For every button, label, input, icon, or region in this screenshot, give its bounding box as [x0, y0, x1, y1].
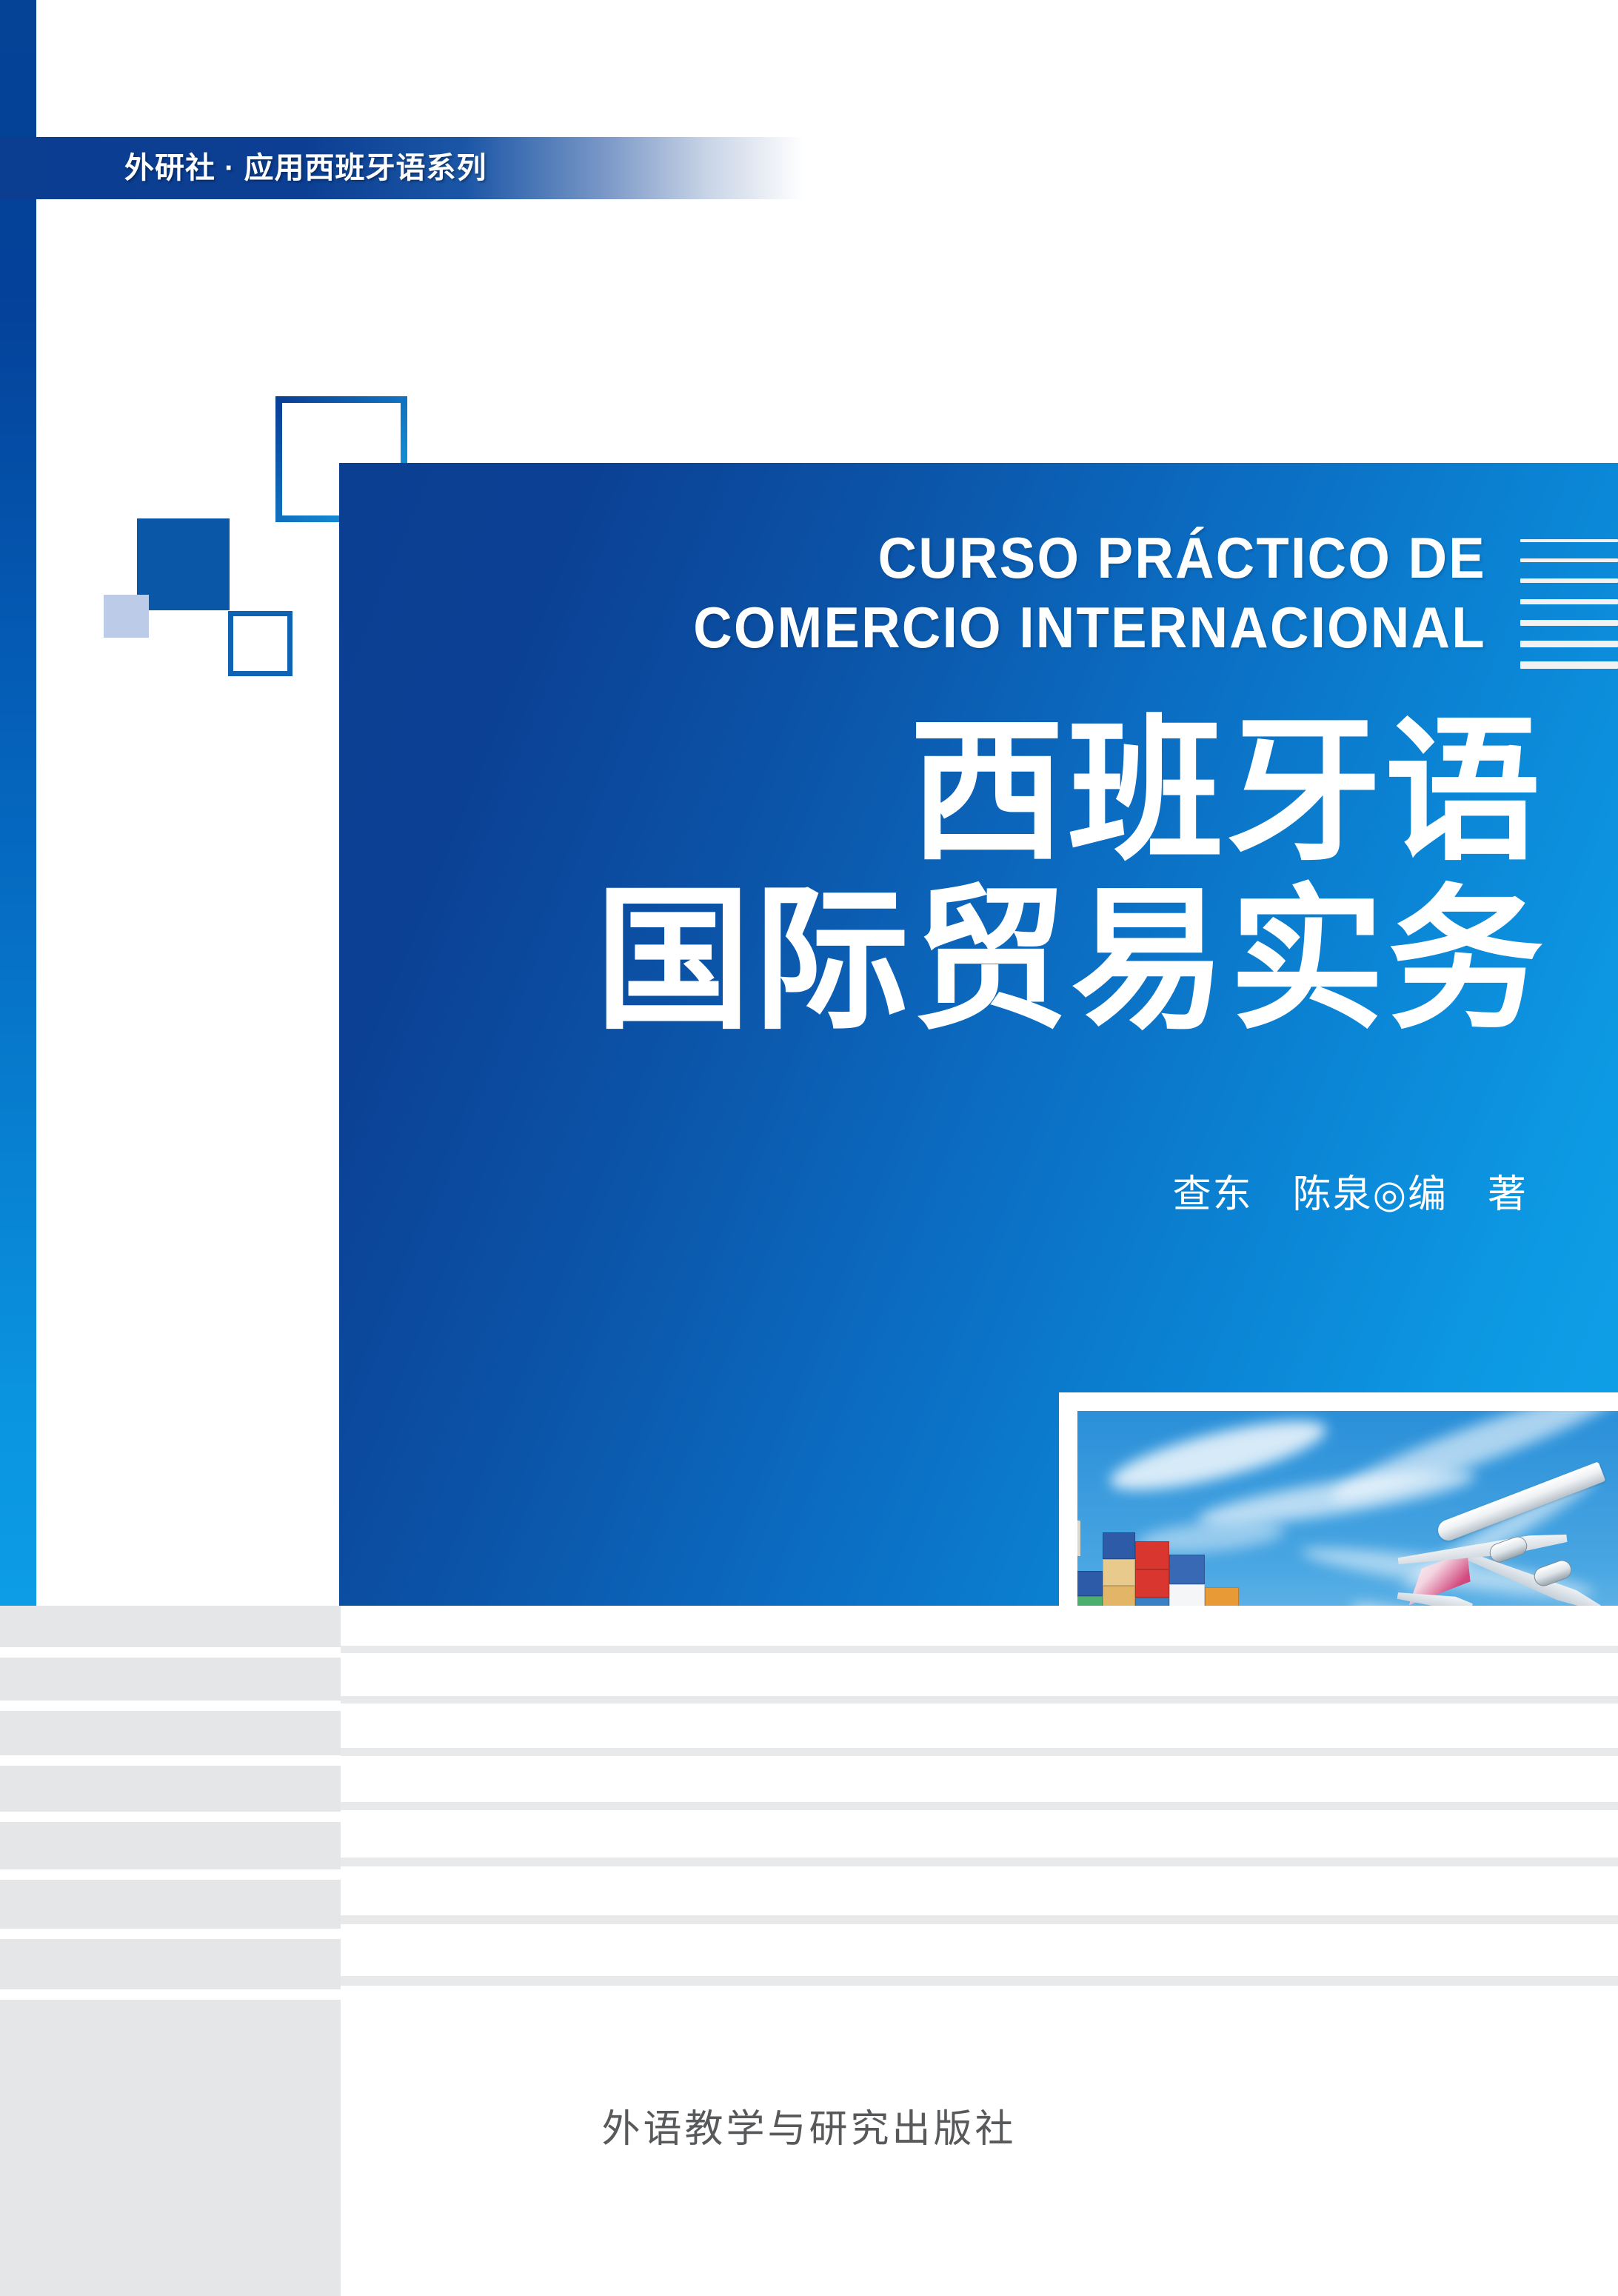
- stripe-gap-right: [341, 1924, 1618, 1976]
- spanish-title: CURSO PRÁCTICO DE COMERCIO INTERNACIONAL: [488, 523, 1487, 662]
- stripe-line-right: [341, 1748, 1618, 1756]
- decorative-rule-1: [1520, 539, 1618, 542]
- stripe-bar-left: [0, 1658, 341, 1701]
- outline-square-small-icon: [228, 611, 292, 676]
- stripe-line-right: [341, 1646, 1618, 1653]
- stripe-bar-left: [0, 1822, 341, 1869]
- stripe-gap-left: [0, 1647, 341, 1658]
- decorative-rule-6: [1520, 641, 1618, 647]
- stripe-line-right: [341, 1802, 1618, 1810]
- spanish-title-line-1: CURSO PRÁCTICO DE: [488, 523, 1487, 593]
- stripe-gap-left: [0, 1755, 341, 1766]
- container-box: [1077, 1571, 1103, 1596]
- stripe-gap-right: [341, 1866, 1618, 1915]
- stripe-gap-left: [0, 1989, 341, 2000]
- container-box: [1169, 1555, 1205, 1584]
- stripe-bar-left: [0, 1880, 341, 1929]
- stripe-gap-left: [0, 1869, 341, 1880]
- container-box: [1103, 1532, 1135, 1559]
- filled-square-icon: [137, 518, 230, 610]
- container-box: [1135, 1541, 1169, 1569]
- decorative-rule-4: [1520, 599, 1618, 604]
- stripe-bar-left: [0, 1711, 341, 1755]
- airplane-engine: [1487, 1534, 1530, 1565]
- lavender-square-icon: [104, 595, 149, 638]
- decorative-rule-2: [1520, 558, 1618, 562]
- decorative-rule-5: [1520, 620, 1618, 626]
- stripe-gap-left: [0, 1701, 341, 1711]
- left-spine-bar: [0, 0, 36, 1607]
- decorative-rule-3: [1520, 578, 1618, 583]
- authors-line: 查东 陈泉◎编 著: [1173, 1169, 1528, 1221]
- stripe-bar-left: [0, 1939, 341, 1989]
- series-banner-label: 外研社 · 应用西班牙语系列: [124, 141, 487, 196]
- decorative-rule-7: [1520, 661, 1618, 669]
- stripe-gap-left: [0, 1812, 341, 1822]
- stripe-line-right: [341, 1858, 1618, 1866]
- container-box: [1135, 1569, 1169, 1598]
- chinese-title-line-1: 西班牙语: [450, 707, 1546, 876]
- chinese-title-line-2: 国际贸易实务: [450, 876, 1546, 1045]
- stripe-band-right: [341, 1606, 1618, 2282]
- container-box: [1103, 1559, 1135, 1586]
- page-title: 西班牙语 国际贸易实务: [450, 707, 1546, 1045]
- stripe-gap-right: [341, 1810, 1618, 1858]
- spanish-title-line-2: COMERCIO INTERNACIONAL: [488, 593, 1487, 662]
- ship-mast: [1077, 1521, 1080, 1556]
- publisher-name: 外语教学与研究出版社: [0, 2098, 1618, 2153]
- stripe-bar-left: [0, 1766, 341, 1812]
- stripe-line-right: [341, 1915, 1618, 1924]
- book-cover: 外研社 · 应用西班牙语系列 CURSO PRÁCTICO DE COMERCI…: [0, 0, 1618, 2282]
- stripe-line-right: [341, 1976, 1618, 1986]
- stripe-gap-left: [0, 1929, 341, 1939]
- stripe-bar-left: [0, 1606, 341, 1647]
- stripe-gap-right: [341, 1703, 1618, 1748]
- decorative-rule-stack: [1520, 539, 1618, 673]
- stripe-line-right: [341, 1696, 1618, 1703]
- stripe-band-left: [0, 1606, 341, 2282]
- stripe-gap-right: [341, 1756, 1618, 1802]
- stripe-gap-right: [341, 1606, 1618, 1646]
- stripe-gap-right: [341, 1653, 1618, 1696]
